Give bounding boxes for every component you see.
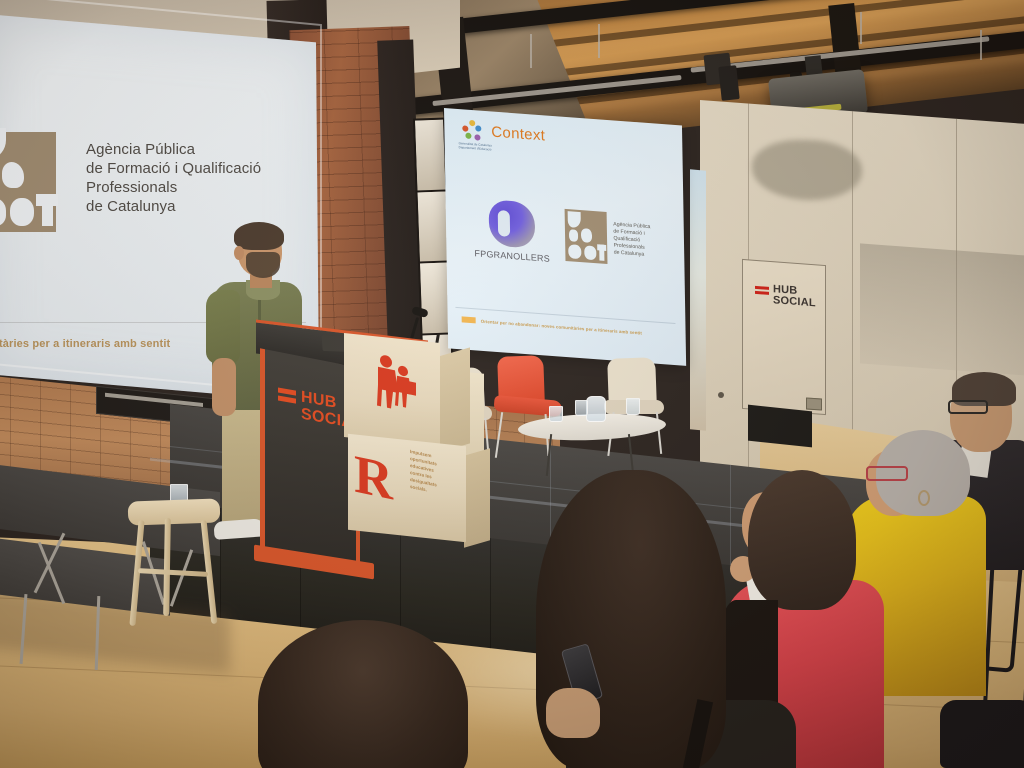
two-people-walking-icon: [372, 351, 418, 417]
audience-hair: [748, 470, 856, 610]
ceiling-hanger-rod: [980, 30, 982, 60]
heading-line: de Catalunya: [86, 197, 296, 216]
ceiling-hanger-rod: [598, 24, 600, 58]
stool-leg: [163, 518, 171, 616]
hub-social-equals-logo: [278, 384, 296, 421]
slide-title: Context: [491, 123, 545, 144]
fpcat-agencia-logo: Agència Pública de Formació i Qualificac…: [565, 209, 672, 269]
window-strip: [690, 169, 706, 430]
drinking-glass: [575, 400, 588, 416]
presenter-sleeve: [206, 290, 240, 364]
presenter-arm: [212, 358, 236, 416]
hub-social-equals-logo: [755, 286, 769, 297]
box-letter-r: R: [354, 446, 393, 508]
heading-line: de Formació i Qualificació: [86, 159, 296, 178]
fpcat-label: Agència Pública de Formació i Qualificac…: [613, 221, 672, 260]
box-side: [464, 448, 490, 547]
audience-earring: [918, 490, 930, 506]
box-slogan: Impulsem oportunitats educatives contra …: [410, 448, 456, 500]
drinking-glass: [626, 398, 640, 415]
generalitat-logo-caption: Generalitat de Catalunya Departament d'E…: [459, 141, 497, 152]
wall-fixture-dot: [718, 392, 724, 398]
door-lock-plate[interactable]: [806, 397, 822, 410]
audience-bag: [940, 700, 1024, 768]
heading-line: Agència Pública: [86, 140, 296, 159]
presenter-ear: [234, 246, 244, 260]
wall-glass-band: [860, 243, 1024, 376]
hub-social-door[interactable]: HUB SOCIAL: [742, 259, 826, 415]
cardboard-box-figure: [344, 338, 440, 446]
heading-line: Professionals: [86, 178, 296, 197]
generalitat-fp-logo: [462, 119, 482, 140]
slide-logo-row: FPGRANOLLERS Agència Pública de Formació…: [474, 198, 661, 272]
side-table-dark: [748, 405, 812, 448]
footer-chip-icon: [462, 316, 476, 323]
fpgranollers-mark: [488, 199, 535, 248]
box-side: [438, 347, 470, 452]
slide-footer-text: Orientar per no abandonar: noves comunit…: [481, 318, 642, 335]
cardboard-box-r: R Impulsem oportunitats educatives contr…: [348, 440, 470, 540]
fpgranollers-label: FPGRANOLLERS: [474, 248, 550, 264]
ceiling-hanger-rod: [530, 34, 532, 68]
stool-stretcher: [138, 568, 208, 577]
presenter-hair: [234, 222, 284, 250]
audience-glasses: [948, 400, 988, 414]
projection-screen-right: Context Generalitat de Catalunya Departa…: [444, 108, 686, 366]
fpcat-logo: [0, 132, 56, 232]
presenter-beard: [246, 252, 280, 278]
conference-room-photo: HUB SOCIAL Agència Pública de Formació i…: [0, 0, 1024, 768]
audience-hand: [546, 688, 600, 738]
fpgranollers-logo: FPGRANOLLERS: [474, 198, 550, 264]
screen-left-heading: Agència Pública de Formació i Qualificac…: [86, 140, 296, 216]
box-front: [344, 333, 440, 447]
audience-glasses: [866, 466, 908, 481]
wall-sign-text: HUB SOCIAL: [773, 284, 816, 309]
box-front: R Impulsem oportunitats educatives contr…: [348, 434, 466, 542]
water-pitcher: [586, 396, 606, 422]
ceiling-hanger-rod: [860, 12, 862, 44]
drinking-glass: [549, 406, 563, 422]
fpcat-mark: [565, 209, 608, 264]
ceiling-speaker-cabinet: [718, 65, 739, 101]
